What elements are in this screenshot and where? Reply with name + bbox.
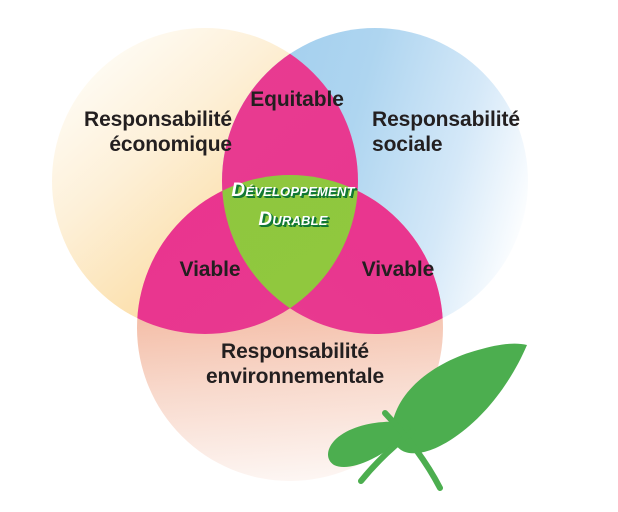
sustainable-development-venn-diagram: Responsabilité économique Responsabilité… bbox=[0, 0, 618, 512]
venn-diagram-graphic bbox=[0, 0, 618, 512]
